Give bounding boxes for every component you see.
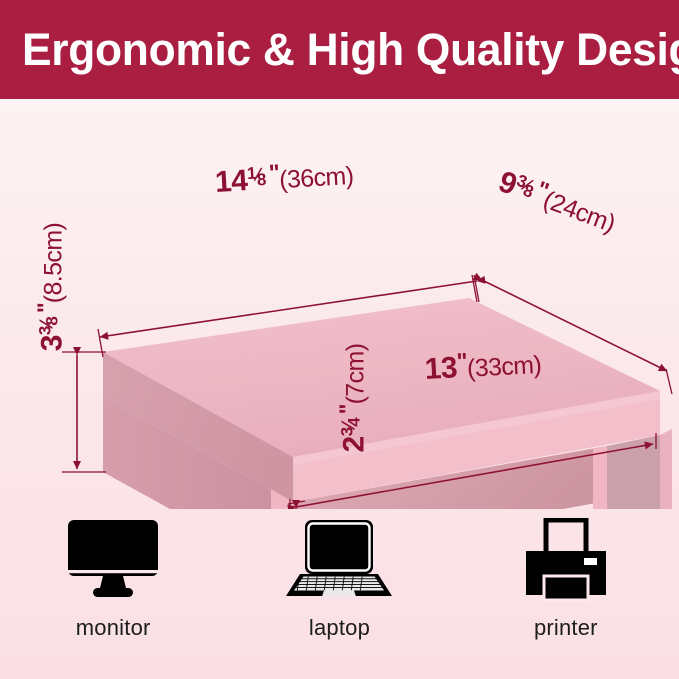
dim-height-inch-mark: " [32, 303, 58, 313]
device-item-printer: printer [453, 512, 679, 679]
supported-devices-row: monitor [0, 512, 679, 679]
header-banner: Ergonomic & High Quality Design [0, 0, 679, 99]
dim-clearance-whole: 2 [337, 436, 370, 452]
dim-clearance-inch-mark: " [334, 404, 360, 414]
printer-icon [518, 512, 614, 602]
page-title: Ergonomic & High Quality Design [22, 27, 679, 72]
device-label-monitor: monitor [76, 617, 151, 639]
device-item-laptop: laptop [226, 512, 452, 679]
dim-clearance-numerator: 3 [337, 427, 356, 436]
dim-width-numerator: 1 [246, 164, 257, 184]
dim-innerwidth-whole: 13 [424, 351, 458, 386]
dim-height-metric: (8.5cm) [39, 223, 67, 304]
dim-width-ext-left [98, 329, 103, 357]
riser-body [103, 298, 672, 509]
riser-right-leg-outer [593, 446, 607, 509]
dimension-label-height: 33⁄8"(8.5cm) [37, 223, 67, 352]
dim-clearance-denominator: 4 [344, 417, 363, 426]
dim-width-metric: (36cm) [278, 162, 354, 194]
device-label-printer: printer [534, 617, 598, 639]
device-item-monitor: monitor [0, 512, 226, 679]
dim-clearance-fraction: 3⁄4 [339, 414, 357, 436]
dim-height-denominator: 8 [42, 316, 61, 325]
laptop-icon [284, 512, 394, 602]
dim-width-inch-mark: " [268, 159, 279, 186]
dim-depth-ext-end [666, 369, 672, 394]
dim-width-whole: 14 [214, 164, 248, 199]
product-infographic: Ergonomic & High Quality Design [0, 0, 679, 679]
dim-width-fraction: 1⁄8 [247, 165, 270, 184]
dim-height-numerator: 3 [35, 326, 54, 335]
dim-innerwidth-inch-mark: " [456, 348, 467, 374]
dim-height-whole: 3 [35, 335, 68, 351]
dim-height-fraction: 3⁄8 [37, 313, 55, 335]
device-label-laptop: laptop [309, 617, 370, 639]
riser-right-leg-side [660, 429, 672, 509]
dimension-label-inner-width: 13"(33cm) [424, 349, 542, 385]
dim-clearance-metric: (7cm) [341, 344, 369, 405]
dim-innerwidth-metric: (33cm) [466, 351, 542, 383]
monitor-icon [65, 512, 161, 602]
riser-right-leg-inner [607, 435, 660, 509]
dim-width-denominator: 8 [256, 170, 267, 190]
dimension-label-clearance: 23⁄4"(7cm) [339, 344, 369, 453]
